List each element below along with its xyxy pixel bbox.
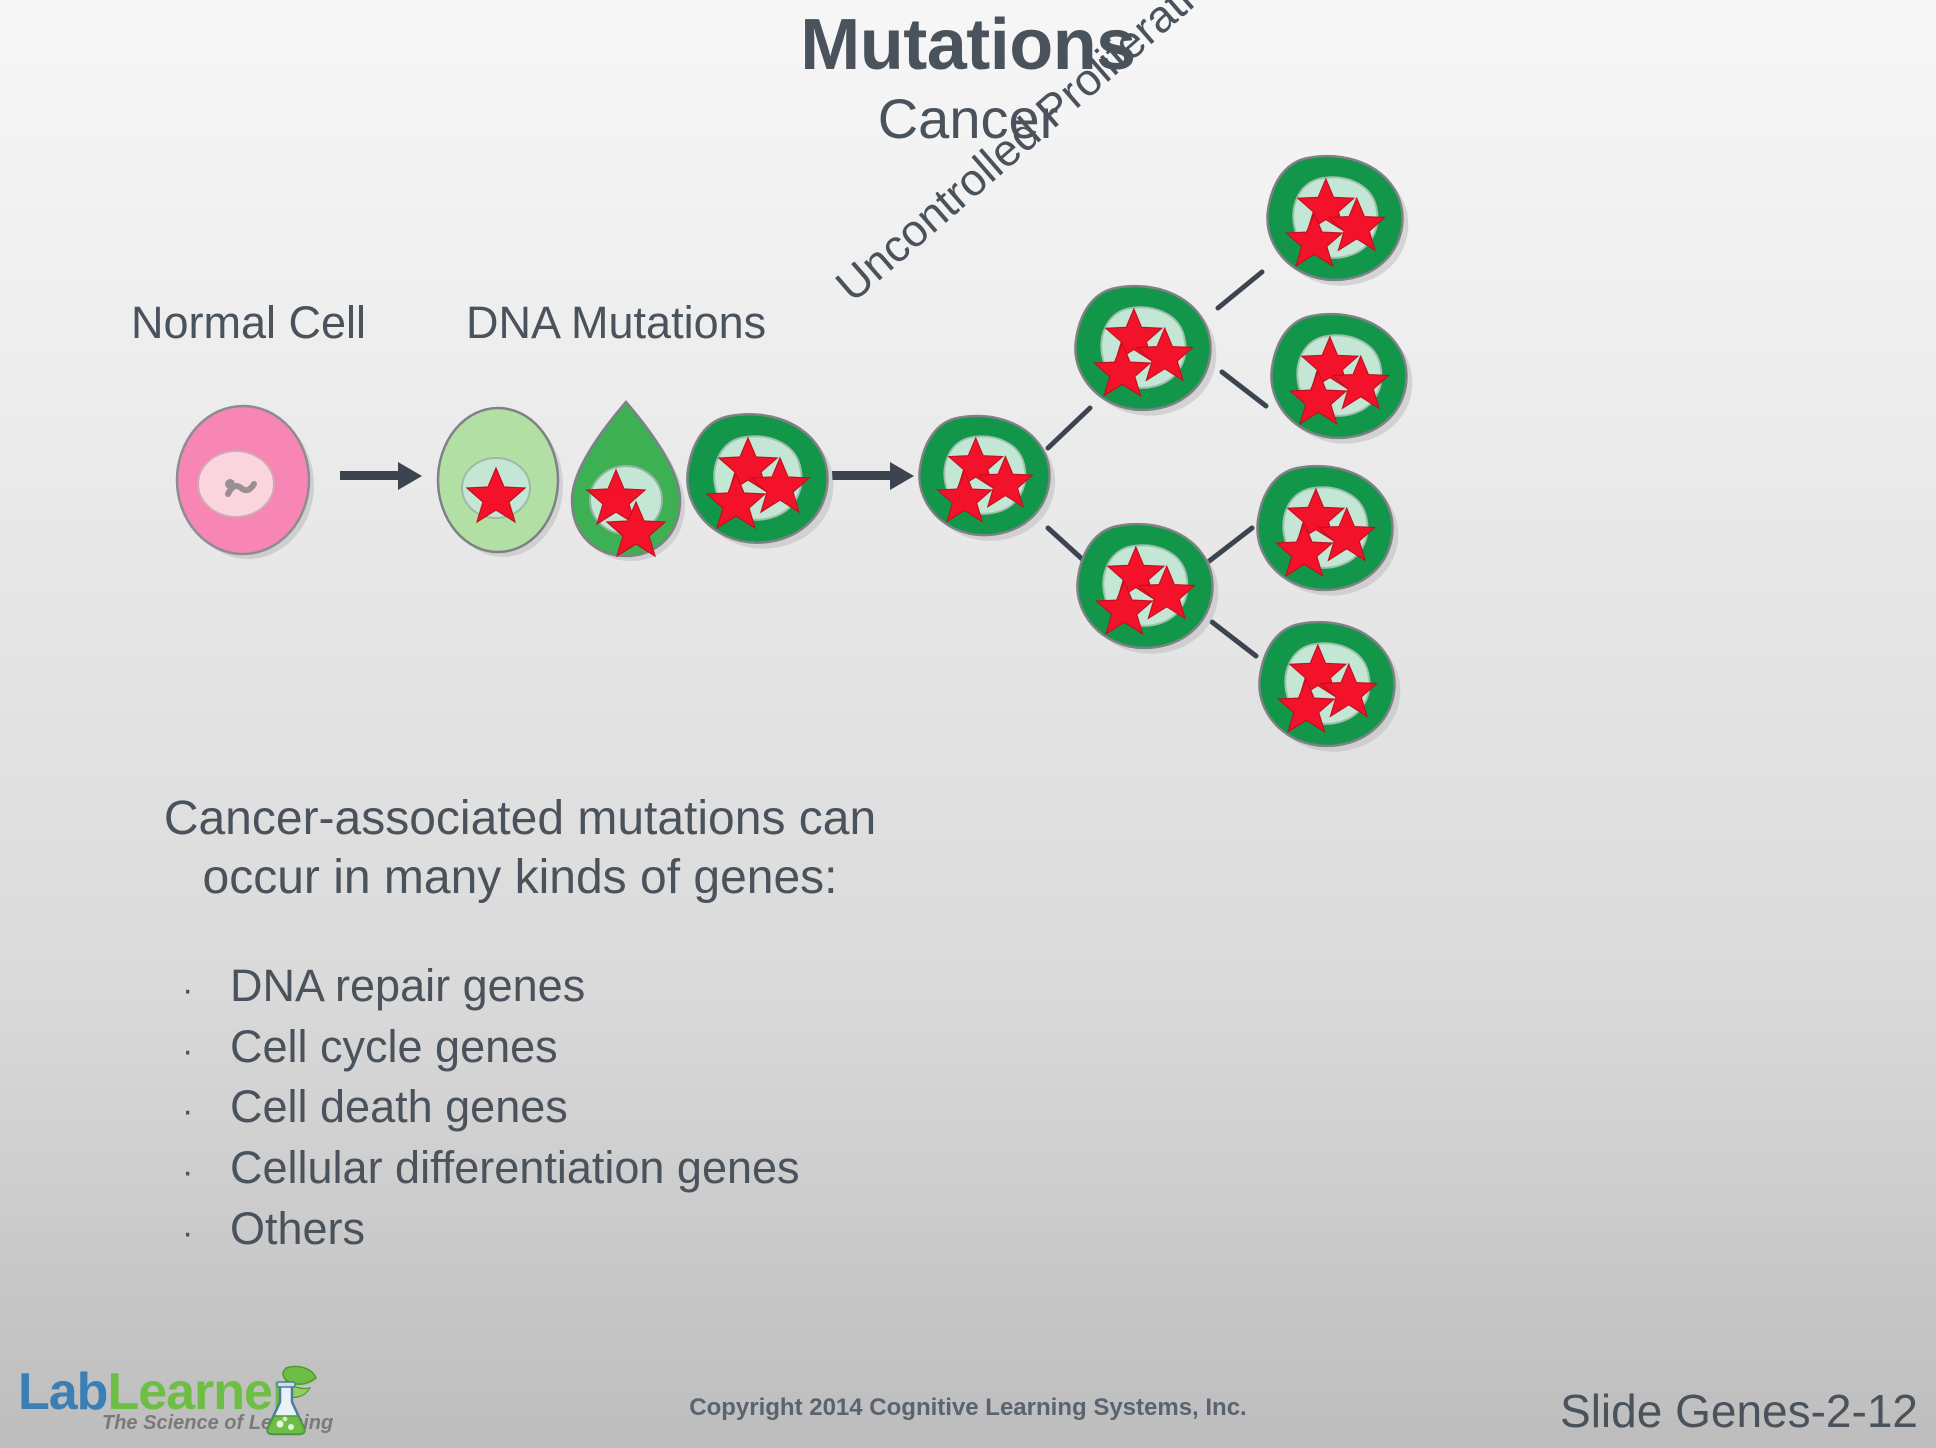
slide-canvas: Mutations Cancer Normal Cell DNA Mutatio… (0, 0, 1936, 1448)
cancer-cell-founder (910, 412, 1060, 542)
list-item: · Others (182, 1203, 1082, 1256)
right-arrow-icon (832, 462, 916, 490)
list-item: · Cell cycle genes (182, 1021, 1082, 1074)
label-dna-mutations: DNA Mutations (466, 297, 766, 349)
page-subtitle: Cancer (0, 86, 1936, 151)
list-item: · Cellular differentiation genes (182, 1142, 1082, 1195)
list-item-label: DNA repair genes (230, 960, 585, 1013)
bullet-marker-icon: · (182, 971, 230, 1011)
footer: LabLearner The Science of Learning Copyr… (0, 1352, 1936, 1448)
cancer-cell-gen2-upper (1066, 282, 1221, 417)
list-item-label: Cell cycle genes (230, 1021, 558, 1074)
mutated-cell-1 (430, 398, 570, 558)
bullet-marker-icon: · (182, 1032, 230, 1072)
cancer-cell-gen2-lower (1068, 520, 1223, 655)
slide-number: Slide Genes-2-12 (1560, 1384, 1918, 1438)
cancer-cell-gen3-4 (1250, 618, 1405, 753)
mutated-cell-2 (562, 396, 692, 561)
list-item: · DNA repair genes (182, 960, 1082, 1013)
bullet-marker-icon: · (182, 1153, 230, 1193)
list-item-label: Others (230, 1203, 365, 1256)
bullet-marker-icon: · (182, 1092, 230, 1132)
page-title: Mutations (0, 4, 1936, 86)
right-arrow-icon (340, 462, 424, 490)
intro-text: Cancer-associated mutations can occur in… (140, 790, 900, 907)
mutated-cell-3 (678, 410, 838, 550)
normal-cell (168, 398, 318, 558)
cancer-cell-gen3-1 (1258, 152, 1413, 287)
label-normal-cell: Normal Cell (131, 297, 366, 349)
gene-type-list: · DNA repair genes · Cell cycle genes · … (182, 960, 1082, 1263)
cancer-cell-gen3-3 (1248, 462, 1403, 597)
list-item-label: Cell death genes (230, 1081, 568, 1134)
cancer-cell-gen3-2 (1262, 310, 1417, 445)
list-item-label: Cellular differentiation genes (230, 1142, 800, 1195)
list-item: · Cell death genes (182, 1081, 1082, 1134)
bullet-marker-icon: · (182, 1214, 230, 1254)
